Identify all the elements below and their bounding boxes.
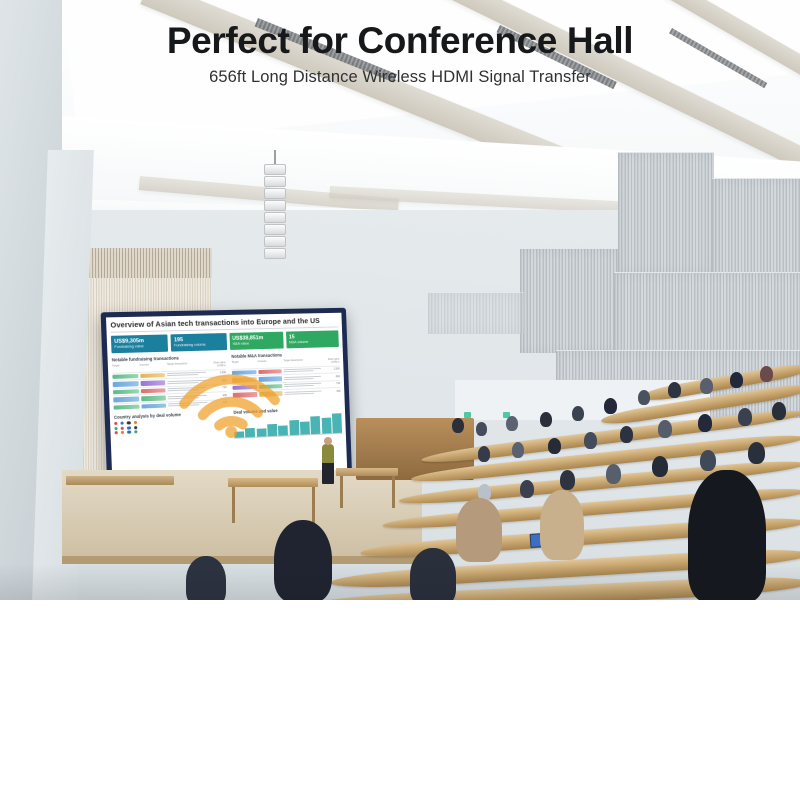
presenter-desk (228, 478, 318, 487)
kpi-card: 15 M&A volume (286, 330, 339, 348)
audience-person (548, 438, 561, 454)
speaker-module (264, 212, 286, 223)
description-text (168, 387, 207, 391)
speaker-module (264, 224, 286, 235)
deal-value: 1,500 (208, 371, 226, 375)
kpi-label: Fundraising volume (174, 342, 223, 347)
audience-person (572, 406, 584, 421)
slide-lower: Country analysis by deal volume (114, 405, 342, 444)
investor-logo (259, 391, 283, 396)
deal-value: 455 (324, 390, 341, 394)
col-description: Target description (167, 362, 206, 369)
presenter-head (324, 437, 332, 445)
page-subtitle: 656ft Long Distance Wireless HDMI Signal… (0, 68, 800, 87)
target-logo (114, 404, 140, 410)
speaker-module (264, 188, 286, 199)
speaker-module (264, 176, 286, 187)
fundraising-table: Notable fundraising transactions Target … (112, 354, 228, 411)
podium-green-light (464, 412, 471, 418)
investor-logo (258, 376, 282, 381)
slide-projected: Overview of Asian tech transactions into… (106, 313, 347, 490)
audience-person (476, 422, 487, 436)
speaker-module (264, 200, 286, 211)
side-desk (336, 468, 398, 476)
desk-leg (392, 476, 395, 508)
target-logo (232, 385, 256, 390)
country-dot (114, 422, 117, 425)
deal-volume-value-chart: Deal volume and value (233, 405, 342, 438)
speaker-module (264, 248, 286, 259)
slide-tables: Notable fundraising transactions Target … (112, 351, 341, 411)
target-logo (232, 377, 256, 382)
deal-value: 860 (323, 375, 340, 379)
audience-person (452, 418, 464, 433)
audience-person (730, 372, 743, 388)
audience-person (638, 390, 650, 405)
country-dot (127, 426, 130, 429)
kpi-label: M&A value (232, 341, 280, 346)
projection-screen-surface: Overview of Asian tech transactions into… (106, 313, 347, 490)
target-logo (113, 396, 139, 402)
country-analysis: Country analysis by deal volume (114, 410, 229, 444)
kpi-label: Fundraising value (114, 344, 165, 349)
kpi-card: US$9,305m Fundraising value (111, 334, 168, 353)
country-dot (134, 426, 137, 429)
kpi-label: M&A volume (289, 339, 336, 344)
audience-person (698, 414, 712, 432)
audience-person (700, 378, 713, 394)
col-deal-value: Deal value (US$m) (322, 358, 339, 364)
speaker-module (264, 236, 286, 247)
country-dot (121, 431, 124, 434)
country-dot (127, 431, 130, 434)
ma-table: Notable M&A transactions Target Investor… (231, 351, 341, 406)
country-dot (134, 430, 137, 433)
speaker-module (264, 164, 286, 175)
acoustic-panel-2 (618, 152, 714, 274)
col-target: Target (232, 360, 256, 367)
projection-screen: Overview of Asian tech transactions into… (101, 308, 353, 496)
country-dot (121, 422, 124, 425)
country-dot (127, 421, 130, 424)
country-dot-grid (114, 417, 228, 435)
audience-person (772, 402, 786, 420)
audience-person (620, 426, 633, 443)
deal-value: 720 (323, 382, 340, 386)
kpi-row: US$9,305m Fundraising value 195 Fundrais… (111, 330, 339, 353)
target-logo (112, 373, 138, 378)
country-dot (115, 431, 118, 434)
col-description: Target description (283, 358, 320, 365)
desk-leg (232, 487, 235, 523)
front-desk (66, 476, 174, 485)
deal-value: 860 (208, 379, 226, 383)
audience-person (512, 442, 524, 458)
investor-logo (140, 388, 165, 393)
audience-person (584, 432, 597, 449)
audience-person (606, 464, 621, 484)
product-panel: Overview of Asian tech transactions into… (0, 600, 800, 800)
target-logo (232, 370, 256, 375)
desk-leg (312, 487, 315, 523)
target-logo (113, 389, 139, 395)
investor-logo (141, 403, 166, 409)
col-deal-value: Deal value (US$m) (208, 361, 226, 368)
investor-logo (141, 395, 166, 401)
audience-person (520, 480, 534, 498)
audience-person (658, 420, 672, 438)
investor-logo (258, 369, 282, 374)
description-text (167, 372, 206, 376)
description-text (285, 390, 322, 394)
target-logo (233, 392, 257, 397)
product-marketing-image: Overview of Asian tech transactions into… (0, 0, 800, 800)
audience-person (748, 442, 765, 464)
deal-value: 455 (209, 394, 227, 398)
hanging-speaker-array (264, 150, 286, 270)
kpi-card: US$38,851m M&A value (229, 332, 284, 350)
deal-value: 1,500 (323, 368, 340, 371)
speaker-rod (274, 150, 276, 164)
kpi-card: 195 Fundraising volume (171, 333, 227, 352)
audience-person (668, 382, 681, 398)
description-text (168, 402, 207, 407)
acoustic-panel-4 (614, 272, 800, 362)
audience-person (506, 416, 518, 431)
audience-person (738, 408, 752, 426)
desk-leg (340, 476, 343, 508)
conference-hall-photo: Overview of Asian tech transactions into… (0, 0, 800, 600)
acoustic-panel-6 (428, 292, 524, 334)
audience-person (604, 398, 617, 414)
target-logo (113, 381, 139, 386)
description-text (167, 380, 206, 384)
foreground-shadow-band (0, 540, 800, 600)
deal-value: 310 (209, 401, 227, 405)
country-dot (114, 427, 117, 430)
col-investor: Investor (258, 359, 282, 366)
acoustic-panel-1 (520, 248, 620, 353)
audience-person (560, 470, 575, 490)
col-target: Target (112, 364, 138, 371)
description-text (284, 383, 321, 387)
audience-person (760, 366, 773, 382)
deal-value: 720 (209, 386, 227, 390)
header: Perfect for Conference Hall 656ft Long D… (0, 22, 800, 87)
description-text (284, 376, 321, 380)
presenter (322, 444, 334, 484)
audience-person (700, 450, 716, 471)
page-title: Perfect for Conference Hall (0, 22, 800, 61)
investor-logo (140, 373, 165, 378)
country-dot (133, 421, 136, 424)
bar-chart (234, 412, 342, 439)
col-investor: Investor (140, 363, 165, 370)
audience-person (478, 446, 490, 462)
country-dot (121, 426, 124, 429)
audience-person (652, 456, 668, 477)
investor-logo (140, 380, 165, 385)
audience-person (540, 412, 552, 427)
description-text (168, 395, 207, 399)
description-text (284, 368, 321, 372)
investor-logo (259, 384, 283, 389)
